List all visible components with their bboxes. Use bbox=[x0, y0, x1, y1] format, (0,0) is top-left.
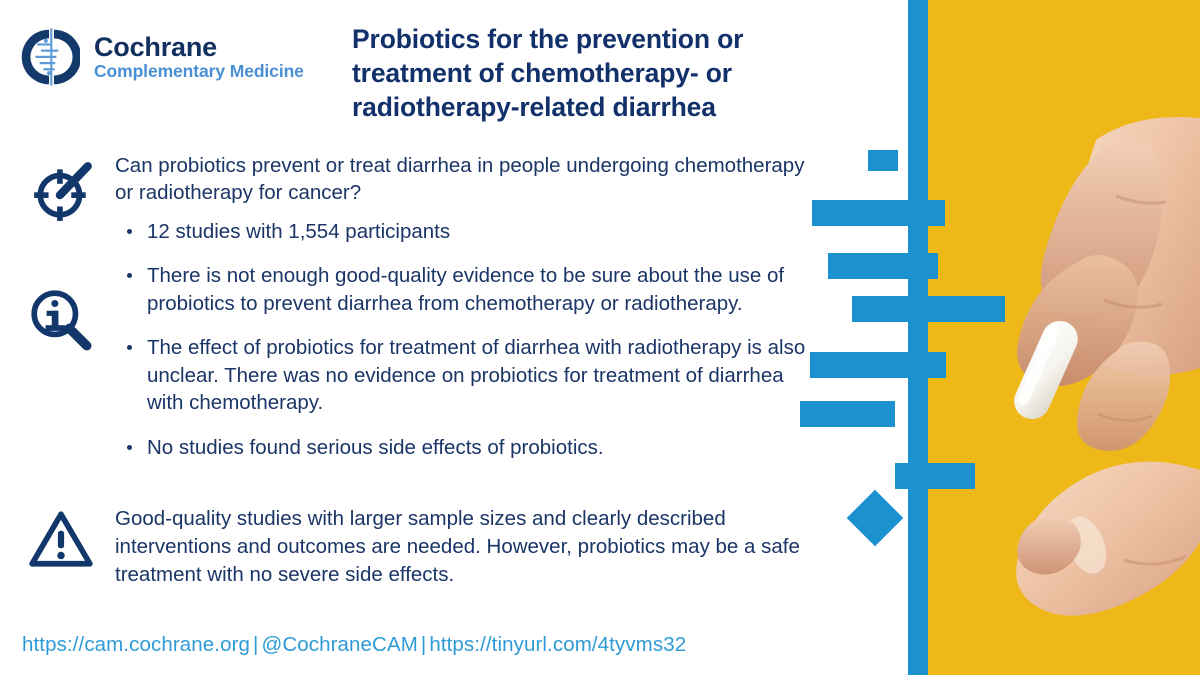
list-item: The effect of probiotics for treatment o… bbox=[125, 334, 825, 416]
page-title: Probiotics for the prevention or treatme… bbox=[352, 22, 852, 125]
brand-name: Cochrane bbox=[94, 33, 304, 62]
key-findings-list: 12 studies with 1,554 participants There… bbox=[125, 218, 825, 478]
cochrane-logo-icon bbox=[18, 26, 80, 88]
info-magnifier-icon bbox=[27, 286, 93, 352]
social-handle-link[interactable]: @CochraneCAM bbox=[261, 633, 417, 656]
brand-group: Complementary Medicine bbox=[94, 62, 304, 81]
forest-plot-bar bbox=[895, 463, 975, 489]
cochrane-logo[interactable]: Cochrane Complementary Medicine bbox=[18, 26, 304, 88]
footer-links: https://cam.cochrane.org|@CochraneCAM|ht… bbox=[22, 633, 686, 657]
review-question-text: Can probiotics prevent or treat diarrhea… bbox=[115, 152, 825, 206]
short-link[interactable]: https://tinyurl.com/4tyvms32 bbox=[429, 633, 686, 656]
footer-separator: | bbox=[250, 633, 261, 656]
hand-holding-capsule-illustration bbox=[928, 0, 1200, 675]
website-link[interactable]: https://cam.cochrane.org bbox=[22, 633, 250, 656]
content-column: Cochrane Complementary Medicine Probioti… bbox=[0, 0, 905, 675]
conclusion-text: Good-quality studies with larger sample … bbox=[115, 505, 840, 589]
warning-triangle-icon bbox=[28, 506, 94, 572]
list-item: There is not enough good-quality evidenc… bbox=[125, 262, 825, 317]
hand-with-pill-photo bbox=[928, 0, 1200, 675]
list-item: No studies found serious side effects of… bbox=[125, 434, 825, 461]
infographic-poster: Cochrane Complementary Medicine Probioti… bbox=[0, 0, 1200, 675]
target-icon bbox=[30, 158, 96, 224]
list-item: 12 studies with 1,554 participants bbox=[125, 218, 825, 245]
footer-separator: | bbox=[418, 633, 429, 656]
forest-plot-axis-line bbox=[908, 0, 928, 675]
